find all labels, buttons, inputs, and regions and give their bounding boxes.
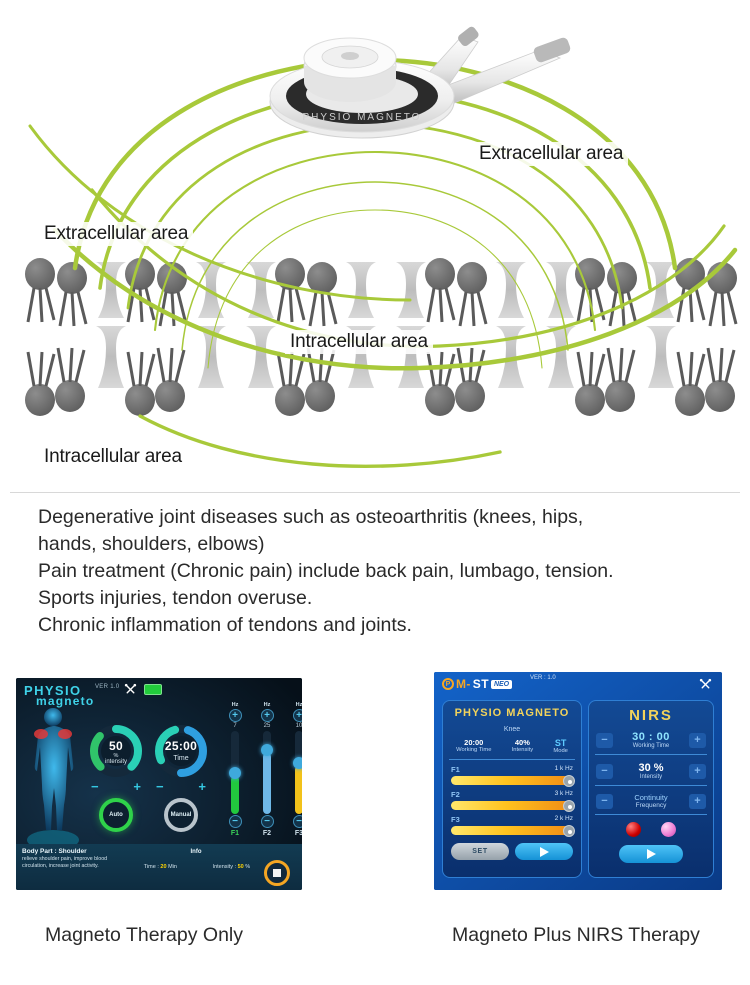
body-part-description: relieve shoulder pain, improve blood cir… [22, 856, 126, 869]
magneto-applicator-device: PHYSIO MAGNETO [270, 25, 572, 138]
nirs-working-time-key: Working Time [613, 743, 689, 749]
magneto-working-time-key: Working Time [456, 747, 491, 753]
left-version-label: VER 1.0 [95, 684, 119, 690]
nirs-frequency-row: − Continuity Frequency + [589, 793, 713, 809]
nirs-panel-title: NIRS [589, 707, 713, 724]
magneto-mode-value: ST [553, 738, 568, 748]
tools-icon[interactable] [699, 678, 712, 691]
magneto-f3-value: 2 k Hz [555, 815, 573, 824]
indication-line: Degenerative joint diseases such as oste… [38, 504, 728, 531]
magneto-intensity-key: Intensity [512, 747, 534, 753]
nirs-working-time-value: 30 : 00 [613, 731, 689, 743]
intensity-value: 50 [87, 739, 145, 753]
manual-mode-button[interactable]: Manual [164, 798, 198, 832]
magneto-intensity-value: 40% [512, 738, 534, 747]
frequency-slider-f1[interactable]: Hz + 7 − F1 [222, 702, 248, 837]
magneto-f2-value: 3 k Hz [555, 790, 573, 799]
info-values: Time : 20 Min Intensity : 50 % [126, 864, 268, 870]
logo-pm-text: M- [456, 677, 471, 691]
indication-line: Chronic inflammation of tendons and join… [38, 612, 728, 639]
nirs-divider [595, 785, 707, 786]
label-extracellular-left: Extracellular area [39, 222, 193, 246]
magneto-action-row: SET [443, 843, 581, 860]
magneto-f3-name: F3 [451, 815, 460, 824]
nirs-intensity-row: − 30 % Intensity + [589, 762, 713, 780]
indication-line: Pain treatment (Chronic pain) include ba… [38, 558, 728, 585]
magneto-f3-track[interactable] [451, 826, 573, 835]
body-figure[interactable] [26, 704, 80, 852]
red-lamp[interactable] [626, 822, 641, 837]
nirs-frequency-mode: Continuity [613, 793, 689, 802]
magneto-working-time-value: 20:00 [456, 738, 491, 747]
indications-text-block: Degenerative joint diseases such as oste… [38, 504, 728, 639]
indication-line: Sports injuries, tendon overuse. [38, 585, 728, 612]
f3-track[interactable] [295, 731, 302, 814]
physio-magneto-panel: PHYSIO MAGNETO Knee 20:00 Working Time 4… [442, 700, 582, 878]
f1-label: F1 [222, 830, 248, 837]
magneto-slider-f2[interactable]: F2 3 k Hz [443, 790, 581, 810]
battery-icon [144, 684, 162, 695]
f2-unit: Hz [254, 702, 280, 708]
f2-label: F2 [254, 830, 280, 837]
nirs-intensity-minus[interactable]: − [596, 764, 613, 779]
nirs-frequency-plus[interactable]: + [689, 794, 706, 809]
magneto-mode-key: Mode [553, 748, 568, 754]
f2-track[interactable] [263, 731, 271, 814]
info-time: Time : 20 Min [144, 864, 177, 870]
nirs-intensity-key: Intensity [613, 774, 689, 780]
magneto-f2-knob[interactable] [563, 800, 575, 812]
intensity-controls: − + [87, 780, 145, 793]
nirs-frequency-key: Frequency [613, 802, 689, 809]
magneto-plus-nirs-device-screen[interactable]: P M- ST NEO VER : 1.0 PHYSIO MAGNETO Kne… [434, 672, 722, 890]
stop-button[interactable] [264, 860, 290, 886]
frequency-slider-f2[interactable]: Hz + 25 − F2 [254, 702, 280, 837]
f3-unit: Hz [286, 702, 302, 708]
tools-icon[interactable] [124, 683, 137, 696]
f3-value: 10 [286, 723, 302, 729]
magneto-f1-knob[interactable] [563, 775, 575, 787]
intensity-caption: intensity [87, 759, 145, 765]
magneto-stats-row: 20:00 Working Time 40% Intensity ST Mode [443, 738, 581, 754]
f1-unit: Hz [222, 702, 248, 708]
frequency-slider-f3[interactable]: Hz + 10 − F3 [286, 702, 302, 837]
f1-plus-button[interactable]: + [229, 709, 242, 722]
nirs-working-time-row: − 30 : 00 Working Time + [589, 731, 713, 749]
f3-minus-button[interactable]: − [293, 815, 303, 828]
magneto-f3-knob[interactable] [563, 825, 575, 837]
time-controls: − + [152, 780, 210, 793]
label-extracellular-right: Extracellular area [474, 142, 628, 166]
nirs-lamp-row [589, 822, 713, 837]
set-button[interactable]: SET [451, 843, 509, 860]
page-root: PHYSIO MAGNETO Extracellular area Extrac… [0, 0, 750, 985]
nirs-intensity-plus[interactable]: + [689, 764, 706, 779]
cell-membrane-diagram: PHYSIO MAGNETO Extracellular area Extrac… [0, 0, 750, 488]
body-part-label: Body Part : Shoulder [22, 848, 87, 855]
magneto-only-device-screen[interactable]: PHYSIO magneto VER 1.0 [16, 678, 302, 890]
nirs-divider [595, 754, 707, 755]
section-divider [10, 492, 740, 493]
f1-value: 7 [222, 723, 248, 729]
f2-plus-button[interactable]: + [261, 709, 274, 722]
time-plus-button[interactable]: + [198, 780, 206, 793]
logo-st-text: ST [473, 677, 489, 691]
nirs-working-time-minus[interactable]: − [596, 733, 613, 748]
device-brand-text: PHYSIO MAGNETO [303, 112, 422, 123]
magneto-working-time-stat: 20:00 Working Time [456, 738, 491, 754]
pm-st-neo-logo: P M- ST NEO [442, 677, 512, 691]
label-intracellular-middle: Intracellular area [285, 330, 433, 354]
play-icon [540, 847, 549, 857]
phospholipids-lower [25, 348, 735, 416]
left-screen-footer: Body Part : Shoulder relieve shoulder pa… [16, 844, 302, 890]
nirs-working-time-plus[interactable]: + [689, 733, 706, 748]
magneto-panel-title: PHYSIO MAGNETO [443, 707, 581, 719]
indication-line: hands, shoulders, elbows) [38, 531, 728, 558]
f3-plus-button[interactable]: + [293, 709, 303, 722]
play-icon [647, 849, 656, 859]
magneto-slider-f3[interactable]: F3 2 k Hz [443, 815, 581, 835]
f3-label: F3 [286, 830, 302, 837]
intensity-minus-button[interactable]: − [91, 780, 99, 793]
magneto-f1-track[interactable] [451, 776, 573, 785]
f2-minus-button[interactable]: − [261, 815, 274, 828]
nirs-intensity-value: 30 % [613, 762, 689, 774]
pink-lamp[interactable] [661, 822, 676, 837]
nirs-play-button[interactable] [619, 845, 683, 863]
nirs-panel: NIRS − 30 : 00 Working Time + − 30 % Int… [588, 700, 714, 878]
time-dial[interactable]: 25:00 Time − + [152, 722, 210, 780]
magneto-f2-name: F2 [451, 790, 460, 799]
f1-track[interactable] [231, 731, 239, 814]
nirs-divider [595, 814, 707, 815]
magneto-f1-value: 1 k Hz [555, 765, 573, 774]
magneto-intensity-stat: 40% Intensity [512, 738, 534, 754]
logo-neo-badge: NEO [491, 680, 512, 689]
magneto-body-part: Knee [443, 726, 581, 733]
label-intracellular-left: Intracellular area [39, 445, 187, 469]
right-caption: Magneto Plus NIRS Therapy [452, 924, 700, 947]
info-intensity: Intensity : 50 % [213, 864, 251, 870]
logo-ring-icon: P [442, 678, 454, 690]
f1-minus-button[interactable]: − [229, 815, 242, 828]
magneto-f2-track[interactable] [451, 801, 573, 810]
info-title: Info [136, 849, 256, 855]
magneto-f1-name: F1 [451, 765, 460, 774]
nirs-frequency-minus[interactable]: − [596, 794, 613, 809]
time-minus-button[interactable]: − [156, 780, 164, 793]
magneto-play-button[interactable] [515, 843, 573, 860]
time-caption: Time [152, 755, 210, 762]
intensity-plus-button[interactable]: + [133, 780, 141, 793]
left-caption: Magneto Therapy Only [45, 924, 243, 947]
time-value: 25:00 [152, 739, 210, 753]
comparison-section: PHYSIO magneto VER 1.0 [0, 672, 750, 985]
intensity-dial[interactable]: 50 % intensity − + [87, 722, 145, 780]
right-version-label: VER : 1.0 [530, 675, 556, 681]
magneto-panel-divider [449, 759, 575, 760]
magneto-mode-stat: ST Mode [553, 738, 568, 754]
auto-mode-button[interactable]: Auto [99, 798, 133, 832]
f2-value: 25 [254, 723, 280, 729]
magneto-slider-f1[interactable]: F1 1 k Hz [443, 765, 581, 785]
